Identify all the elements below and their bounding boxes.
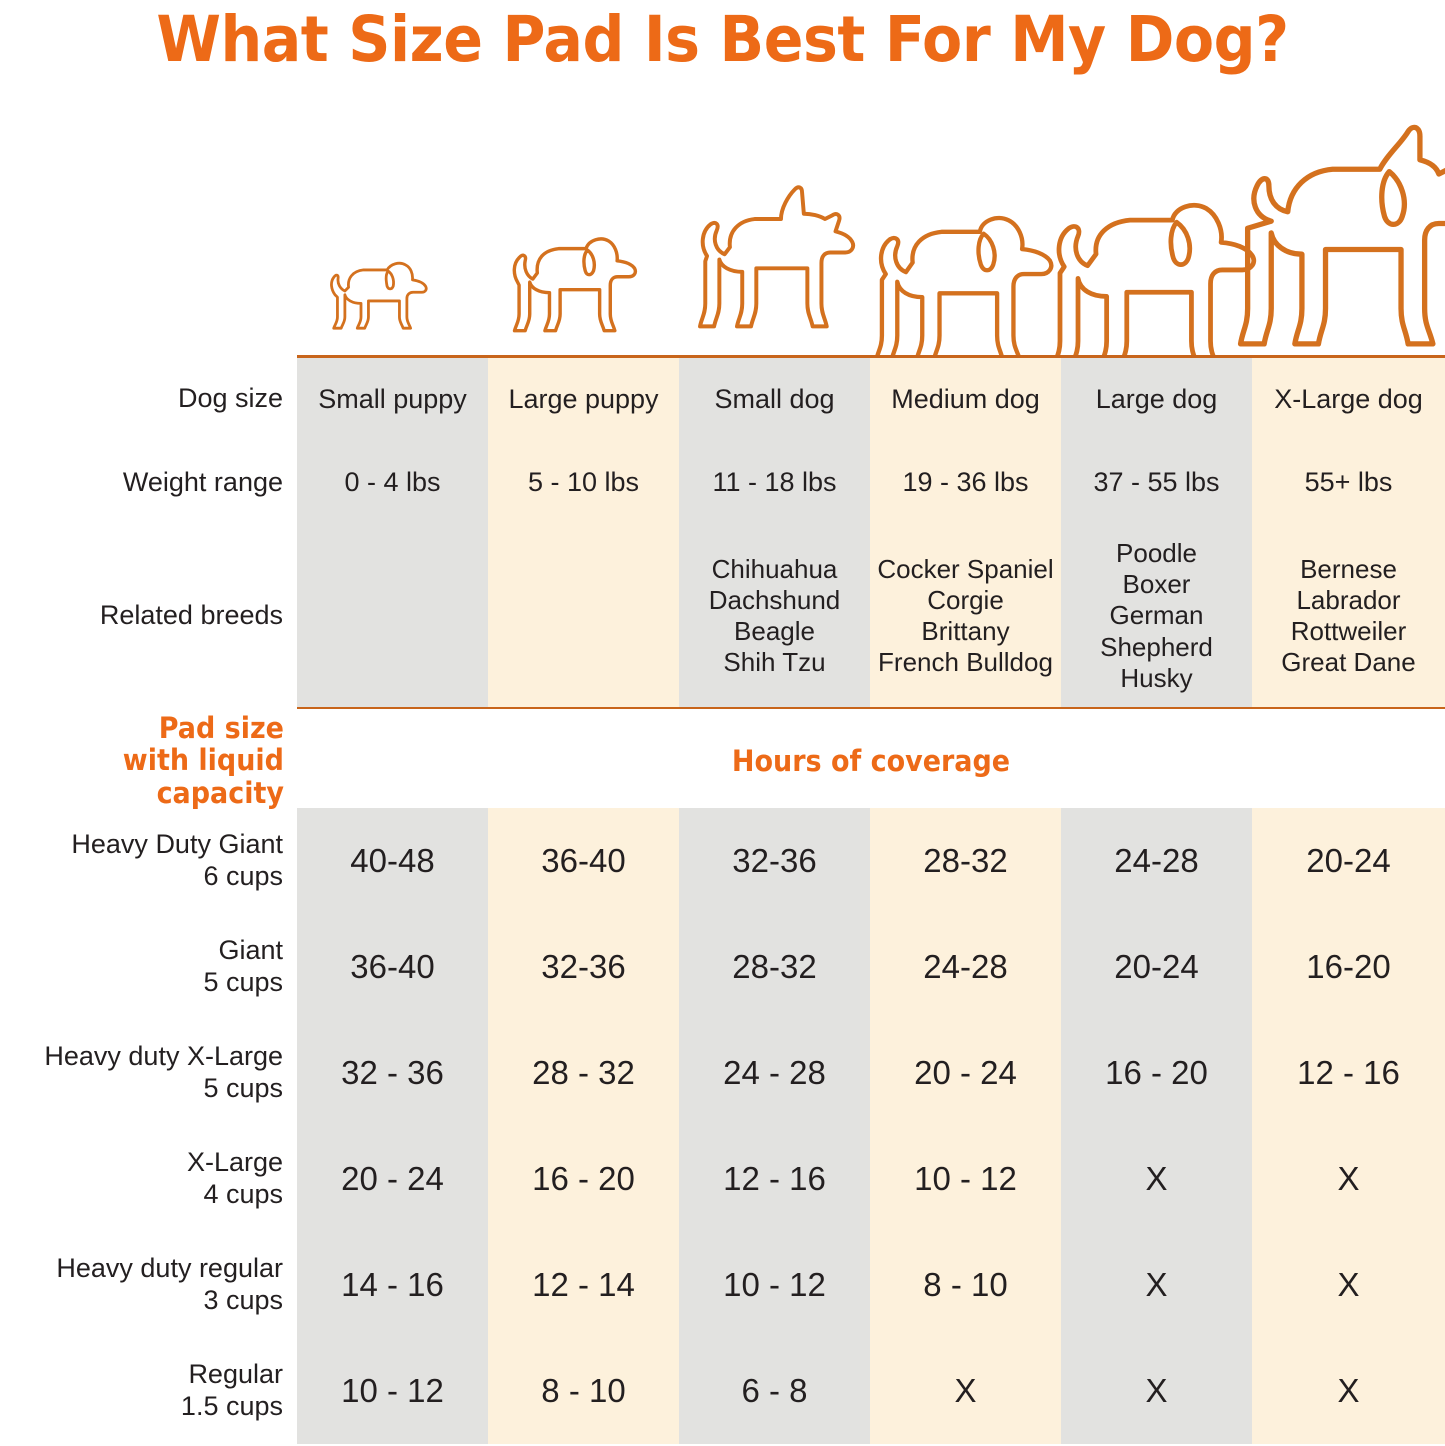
table-cell: X — [1061, 1126, 1252, 1232]
small-dog-icon — [700, 187, 853, 326]
row-label-dog-size: Dog size — [0, 358, 297, 440]
pad-size-label-line1: Pad size — [21, 712, 284, 744]
table-row-label: Heavy Duty Giant 6 cups — [0, 808, 297, 914]
cell-breeds-6: BerneseLabradorRottweilerGreat Dane — [1252, 525, 1445, 707]
cell-breeds-3: ChihuahuaDachshundBeagleShih Tzu — [679, 525, 870, 707]
table-cell: 28-32 — [870, 808, 1061, 914]
cell-dog-size-3: Small dog — [679, 358, 870, 440]
table-row-label: Heavy duty regular 3 cups — [0, 1232, 297, 1338]
table-cell: 16-20 — [1252, 914, 1445, 1020]
cell-weight-5: 37 - 55 lbs — [1061, 440, 1252, 525]
table-cell: X — [870, 1338, 1061, 1444]
table-cell: 40-48 — [297, 808, 488, 914]
x-large-dog-icon — [1241, 127, 1445, 344]
table-cell: 10 - 12 — [679, 1232, 870, 1338]
table-cell: 10 - 12 — [870, 1126, 1061, 1232]
page-title: What Size Pad Is Best For My Dog? — [51, 0, 1395, 71]
cell-breeds-2 — [488, 525, 679, 707]
cell-weight-6: 55+ lbs — [1252, 440, 1445, 525]
cell-dog-size-6: X-Large dog — [1252, 358, 1445, 440]
medium-dog-icon — [876, 218, 1051, 360]
table-cell: 6 - 8 — [679, 1338, 870, 1444]
table-cell: 24-28 — [870, 914, 1061, 1020]
cell-dog-size-1: Small puppy — [297, 358, 488, 440]
pad-name: Regular — [188, 1359, 283, 1391]
pad-capacity: 4 cups — [203, 1179, 283, 1211]
cell-dog-size-5: Large dog — [1061, 358, 1252, 440]
table-cell: 32-36 — [488, 914, 679, 1020]
table-cell: 32-36 — [679, 808, 870, 914]
pad-name: Heavy Duty Giant — [71, 829, 283, 861]
pad-capacity: 6 cups — [203, 861, 283, 893]
hours-of-coverage-table: Heavy Duty Giant 6 cups 40-48 36-40 32-3… — [0, 808, 1445, 1444]
table-cell: 36-40 — [488, 808, 679, 914]
pad-name: X-Large — [187, 1147, 283, 1179]
table-cell: 20 - 24 — [297, 1126, 488, 1232]
table-cell: 28-32 — [679, 914, 870, 1020]
cell-breeds-5: PoodleBoxerGermanShepherdHusky — [1061, 525, 1252, 707]
table-cell: X — [1061, 1338, 1252, 1444]
table-row-label: Giant 5 cups — [0, 914, 297, 1020]
pad-size-header-band: Pad size with liquid capacity Hours of c… — [0, 712, 1445, 808]
cell-weight-3: 11 - 18 lbs — [679, 440, 870, 525]
dog-info-table: Dog size Small puppy Large puppy Small d… — [0, 358, 1445, 707]
pad-capacity: 5 cups — [203, 967, 283, 999]
row-label-related-breeds: Related breeds — [0, 525, 297, 707]
table-cell: X — [1252, 1126, 1445, 1232]
table-cell: 14 - 16 — [297, 1232, 488, 1338]
pad-name: Giant — [218, 935, 283, 967]
table-cell: 20-24 — [1252, 808, 1445, 914]
table-cell: 36-40 — [297, 914, 488, 1020]
table-cell: X — [1252, 1232, 1445, 1338]
table-row-label: X-Large 4 cups — [0, 1126, 297, 1232]
cell-weight-4: 19 - 36 lbs — [870, 440, 1061, 525]
table-cell: 20 - 24 — [870, 1020, 1061, 1126]
small-puppy-icon — [331, 263, 426, 328]
cell-breeds-1 — [297, 525, 488, 707]
table-cell: 24 - 28 — [679, 1020, 870, 1126]
pad-capacity: 1.5 cups — [181, 1391, 283, 1423]
dog-silhouette-strip — [0, 120, 1445, 360]
cell-weight-1: 0 - 4 lbs — [297, 440, 488, 525]
table-cell: 12 - 14 — [488, 1232, 679, 1338]
table-cell: 12 - 16 — [1252, 1020, 1445, 1126]
table-cell: 8 - 10 — [870, 1232, 1061, 1338]
cell-dog-size-2: Large puppy — [488, 358, 679, 440]
table-cell: X — [1252, 1338, 1445, 1444]
table-cell: 24-28 — [1061, 808, 1252, 914]
pad-capacity: 3 cups — [203, 1285, 283, 1317]
table-cell: 8 - 10 — [488, 1338, 679, 1444]
table-row-label: Heavy duty X-Large 5 cups — [0, 1020, 297, 1126]
table-cell: 10 - 12 — [297, 1338, 488, 1444]
pad-capacity: 5 cups — [203, 1073, 283, 1105]
hours-of-coverage-label: Hours of coverage — [337, 744, 1405, 778]
table-cell: 28 - 32 — [488, 1020, 679, 1126]
table-cell: 20-24 — [1061, 914, 1252, 1020]
cell-weight-2: 5 - 10 lbs — [488, 440, 679, 525]
table-cell: 32 - 36 — [297, 1020, 488, 1126]
cell-breeds-4: Cocker SpanielCorgieBrittanyFrench Bulld… — [870, 525, 1061, 707]
large-puppy-icon — [514, 239, 635, 331]
table-cell: 12 - 16 — [679, 1126, 870, 1232]
pad-size-label-line2: with liquid capacity — [21, 744, 284, 809]
row-label-weight-range: Weight range — [0, 440, 297, 525]
table-row-label: Regular 1.5 cups — [0, 1338, 297, 1444]
pad-name: Heavy duty regular — [56, 1253, 283, 1285]
pad-name: Heavy duty X-Large — [44, 1041, 283, 1073]
table-cell: 16 - 20 — [488, 1126, 679, 1232]
cell-dog-size-4: Medium dog — [870, 358, 1061, 440]
table-cell: X — [1061, 1232, 1252, 1338]
large-dog-icon — [1054, 205, 1254, 360]
pad-size-label: Pad size with liquid capacity — [21, 712, 297, 809]
table-cell: 16 - 20 — [1061, 1020, 1252, 1126]
